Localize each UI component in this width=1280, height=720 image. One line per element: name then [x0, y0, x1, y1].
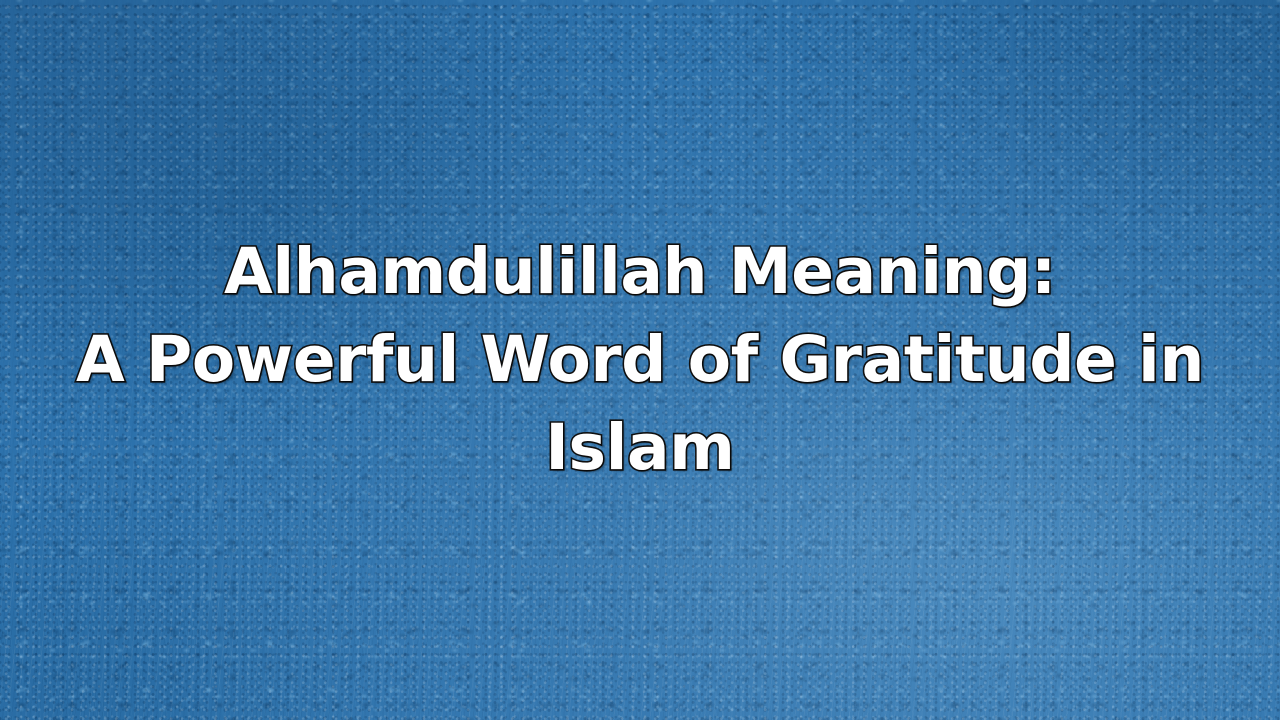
title-line-2: A Powerful Word of Gratitude in: [76, 316, 1204, 404]
page-title: Alhamdulillah Meaning: A Powerful Word o…: [0, 0, 1280, 720]
title-banner: Alhamdulillah Meaning: A Powerful Word o…: [0, 0, 1280, 720]
title-line-3: Islam: [545, 404, 734, 492]
title-line-1: Alhamdulillah Meaning:: [224, 228, 1056, 316]
